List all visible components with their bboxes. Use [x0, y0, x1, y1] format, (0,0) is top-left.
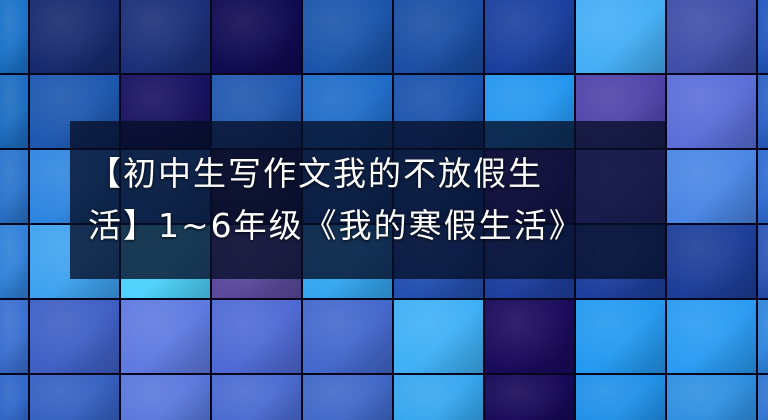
mosaic-tile [30, 300, 119, 373]
mosaic-tile [667, 0, 756, 73]
mosaic-tile [485, 375, 574, 420]
mosaic-tile [758, 150, 768, 223]
mosaic-tile [667, 150, 756, 223]
mosaic-tile [394, 375, 483, 420]
mosaic-tile [667, 375, 756, 420]
mosaic-tile [394, 0, 483, 73]
mosaic-tile [212, 375, 301, 420]
mosaic-tile [758, 300, 768, 373]
mosaic-tile [667, 225, 756, 298]
mosaic-tile [667, 300, 756, 373]
mosaic-tile [30, 375, 119, 420]
headline-line-1: 【初中生写作文我的不放假生 [88, 148, 647, 200]
mosaic-tile [30, 0, 119, 73]
mosaic-tile [0, 0, 28, 73]
mosaic-tile [212, 0, 301, 73]
mosaic-tile [303, 0, 392, 73]
mosaic-tile [303, 300, 392, 373]
mosaic-tile [485, 300, 574, 373]
mosaic-tile [576, 0, 665, 73]
image-canvas: 【初中生写作文我的不放假生 活】1~6年级《我的寒假生活》 [0, 0, 768, 420]
mosaic-tile [0, 75, 28, 148]
headline-line-2: 活】1~6年级《我的寒假生活》 [88, 200, 647, 252]
mosaic-tile [576, 375, 665, 420]
mosaic-tile [758, 225, 768, 298]
mosaic-tile [121, 375, 210, 420]
mosaic-tile [758, 75, 768, 148]
mosaic-tile [212, 300, 301, 373]
mosaic-tile [394, 300, 483, 373]
mosaic-tile [576, 300, 665, 373]
mosaic-tile [667, 75, 756, 148]
mosaic-tile [0, 300, 28, 373]
mosaic-tile [121, 0, 210, 73]
mosaic-tile [758, 375, 768, 420]
mosaic-tile [0, 150, 28, 223]
mosaic-tile [758, 0, 768, 73]
mosaic-tile [0, 225, 28, 298]
mosaic-tile [0, 375, 28, 420]
headline-text-block: 【初中生写作文我的不放假生 活】1~6年级《我的寒假生活》 [70, 121, 665, 279]
mosaic-tile [121, 300, 210, 373]
mosaic-tile [303, 375, 392, 420]
mosaic-tile [485, 0, 574, 73]
